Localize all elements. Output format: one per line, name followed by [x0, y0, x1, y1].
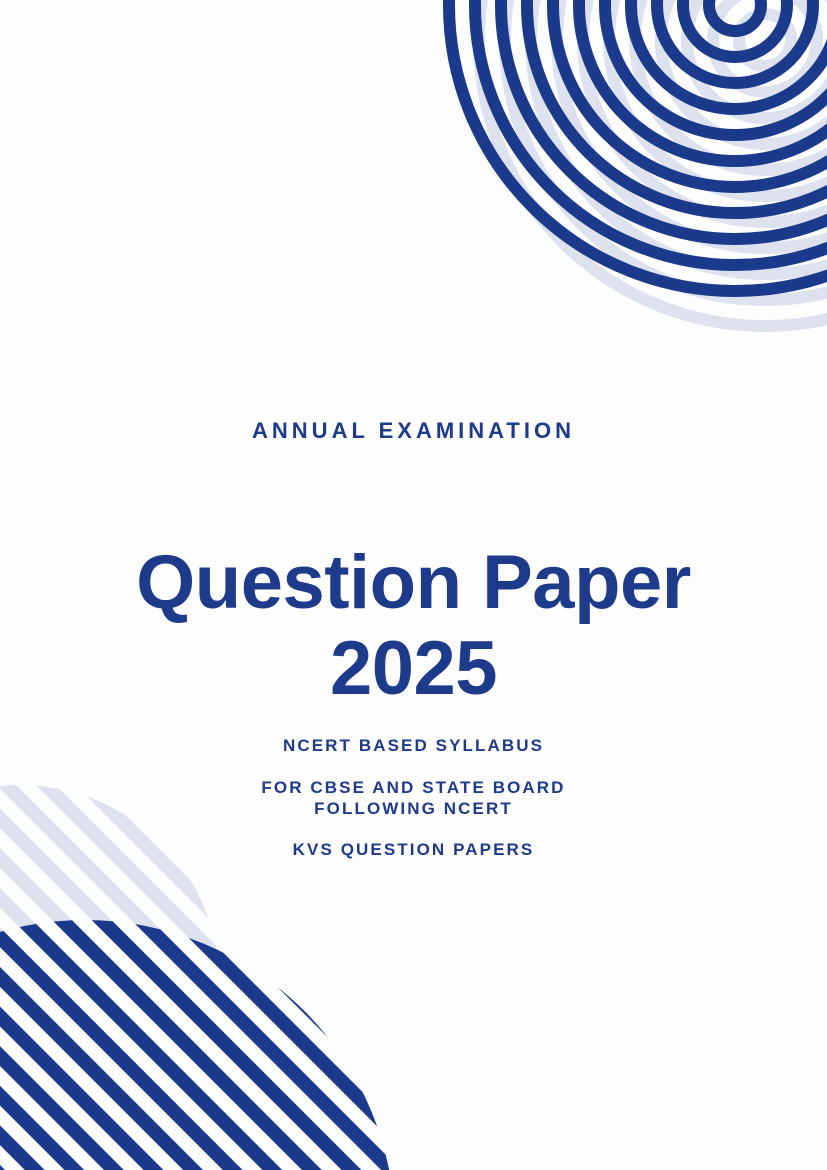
cover-page: ANNUAL EXAMINATION Question Paper 2025 N…: [0, 0, 827, 1170]
navy-striped-circle: [0, 920, 395, 1170]
title-line-2: 2025: [0, 626, 827, 712]
page-title: Question Paper 2025: [0, 540, 827, 712]
subtitle-ncert-syllabus: NCERT BASED SYLLABUS: [0, 735, 827, 756]
subtitle-cbse-state-board: FOR CBSE AND STATE BOARD: [0, 777, 827, 798]
eyebrow-annual-examination: ANNUAL EXAMINATION: [0, 418, 827, 444]
subtitle-following-ncert: FOLLOWING NCERT: [0, 798, 827, 819]
top-right-rings-decoration: [367, 0, 827, 440]
navy-rings-group: [449, 0, 827, 291]
light-rings-group: [479, 0, 827, 326]
subtitle-block: NCERT BASED SYLLABUS FOR CBSE AND STATE …: [0, 735, 827, 860]
title-line-1: Question Paper: [136, 540, 691, 625]
subtitle-kvs-question-papers: KVS QUESTION PAPERS: [0, 839, 827, 860]
